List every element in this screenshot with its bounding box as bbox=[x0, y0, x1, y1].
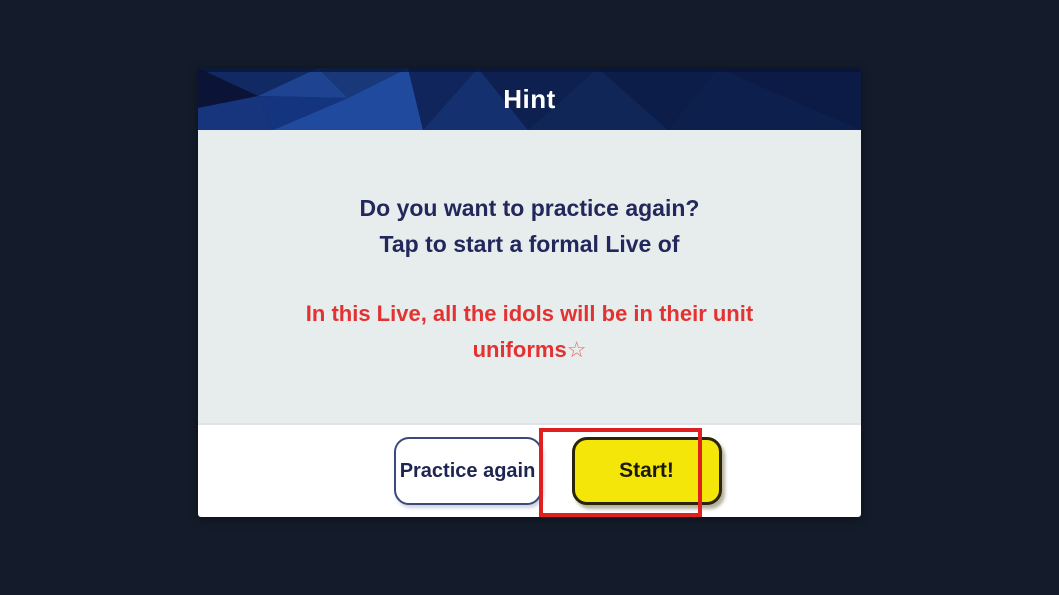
warning-message: In this Live, all the idols will be in t… bbox=[260, 296, 800, 368]
dialog-body: Do you want to practice again? Tap to st… bbox=[198, 130, 861, 425]
message-line-1: Do you want to practice again? bbox=[360, 190, 700, 226]
warning-text: In this Live, all the idols will be in t… bbox=[306, 301, 753, 362]
dialog-header: Hint bbox=[198, 68, 861, 130]
message-line-2: Tap to start a formal Live of bbox=[380, 226, 680, 262]
footer-button-row: Practice again Start! bbox=[394, 437, 722, 505]
star-icon: ☆ bbox=[567, 337, 587, 362]
dialog-footer: Practice again Start! bbox=[198, 425, 861, 517]
hint-dialog: Hint Do you want to practice again? Tap … bbox=[198, 68, 861, 517]
dialog-title: Hint bbox=[198, 68, 861, 130]
start-button[interactable]: Start! bbox=[572, 437, 722, 505]
practice-again-button[interactable]: Practice again bbox=[394, 437, 542, 505]
